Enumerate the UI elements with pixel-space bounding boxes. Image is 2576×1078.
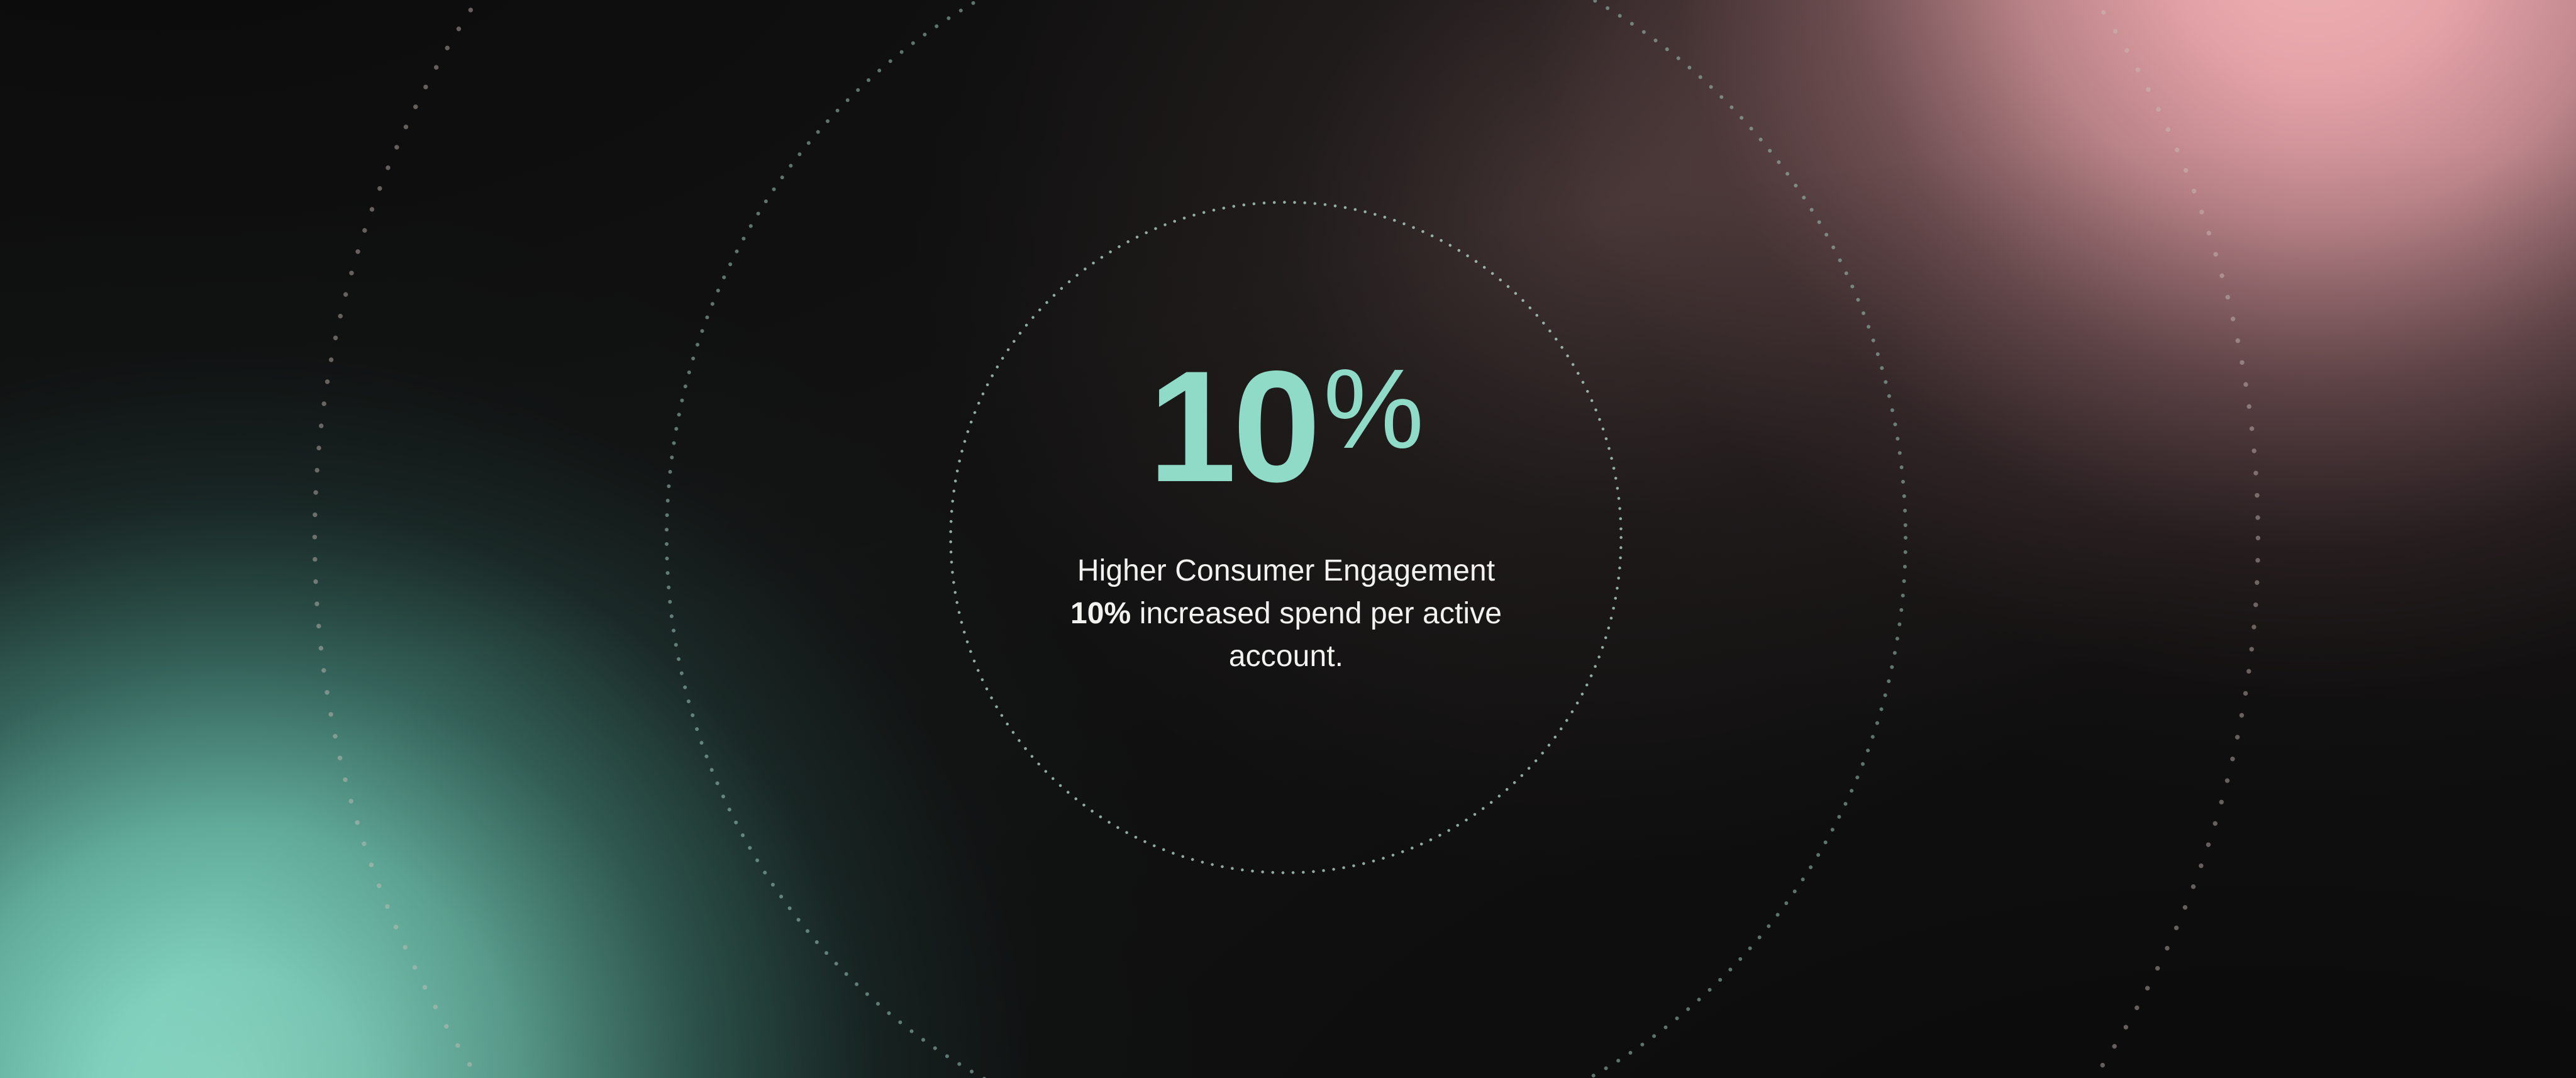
stat-percent-symbol: % [1323, 360, 1424, 459]
caption-lead: Higher Consumer Engagement [1077, 554, 1495, 587]
stat-hero-banner: 10 % Higher Consumer Engagement 10% incr… [0, 0, 2576, 1078]
banner-content: 10 % Higher Consumer Engagement 10% incr… [0, 0, 2576, 1078]
caption-trail: increased spend per active account. [1131, 597, 1502, 673]
caption-highlight: 10% [1070, 597, 1131, 630]
stat-figure: 10 % [1148, 357, 1424, 497]
stat-number: 10 [1148, 357, 1317, 497]
stat-caption: Higher Consumer Engagement 10% increased… [1060, 550, 1513, 678]
